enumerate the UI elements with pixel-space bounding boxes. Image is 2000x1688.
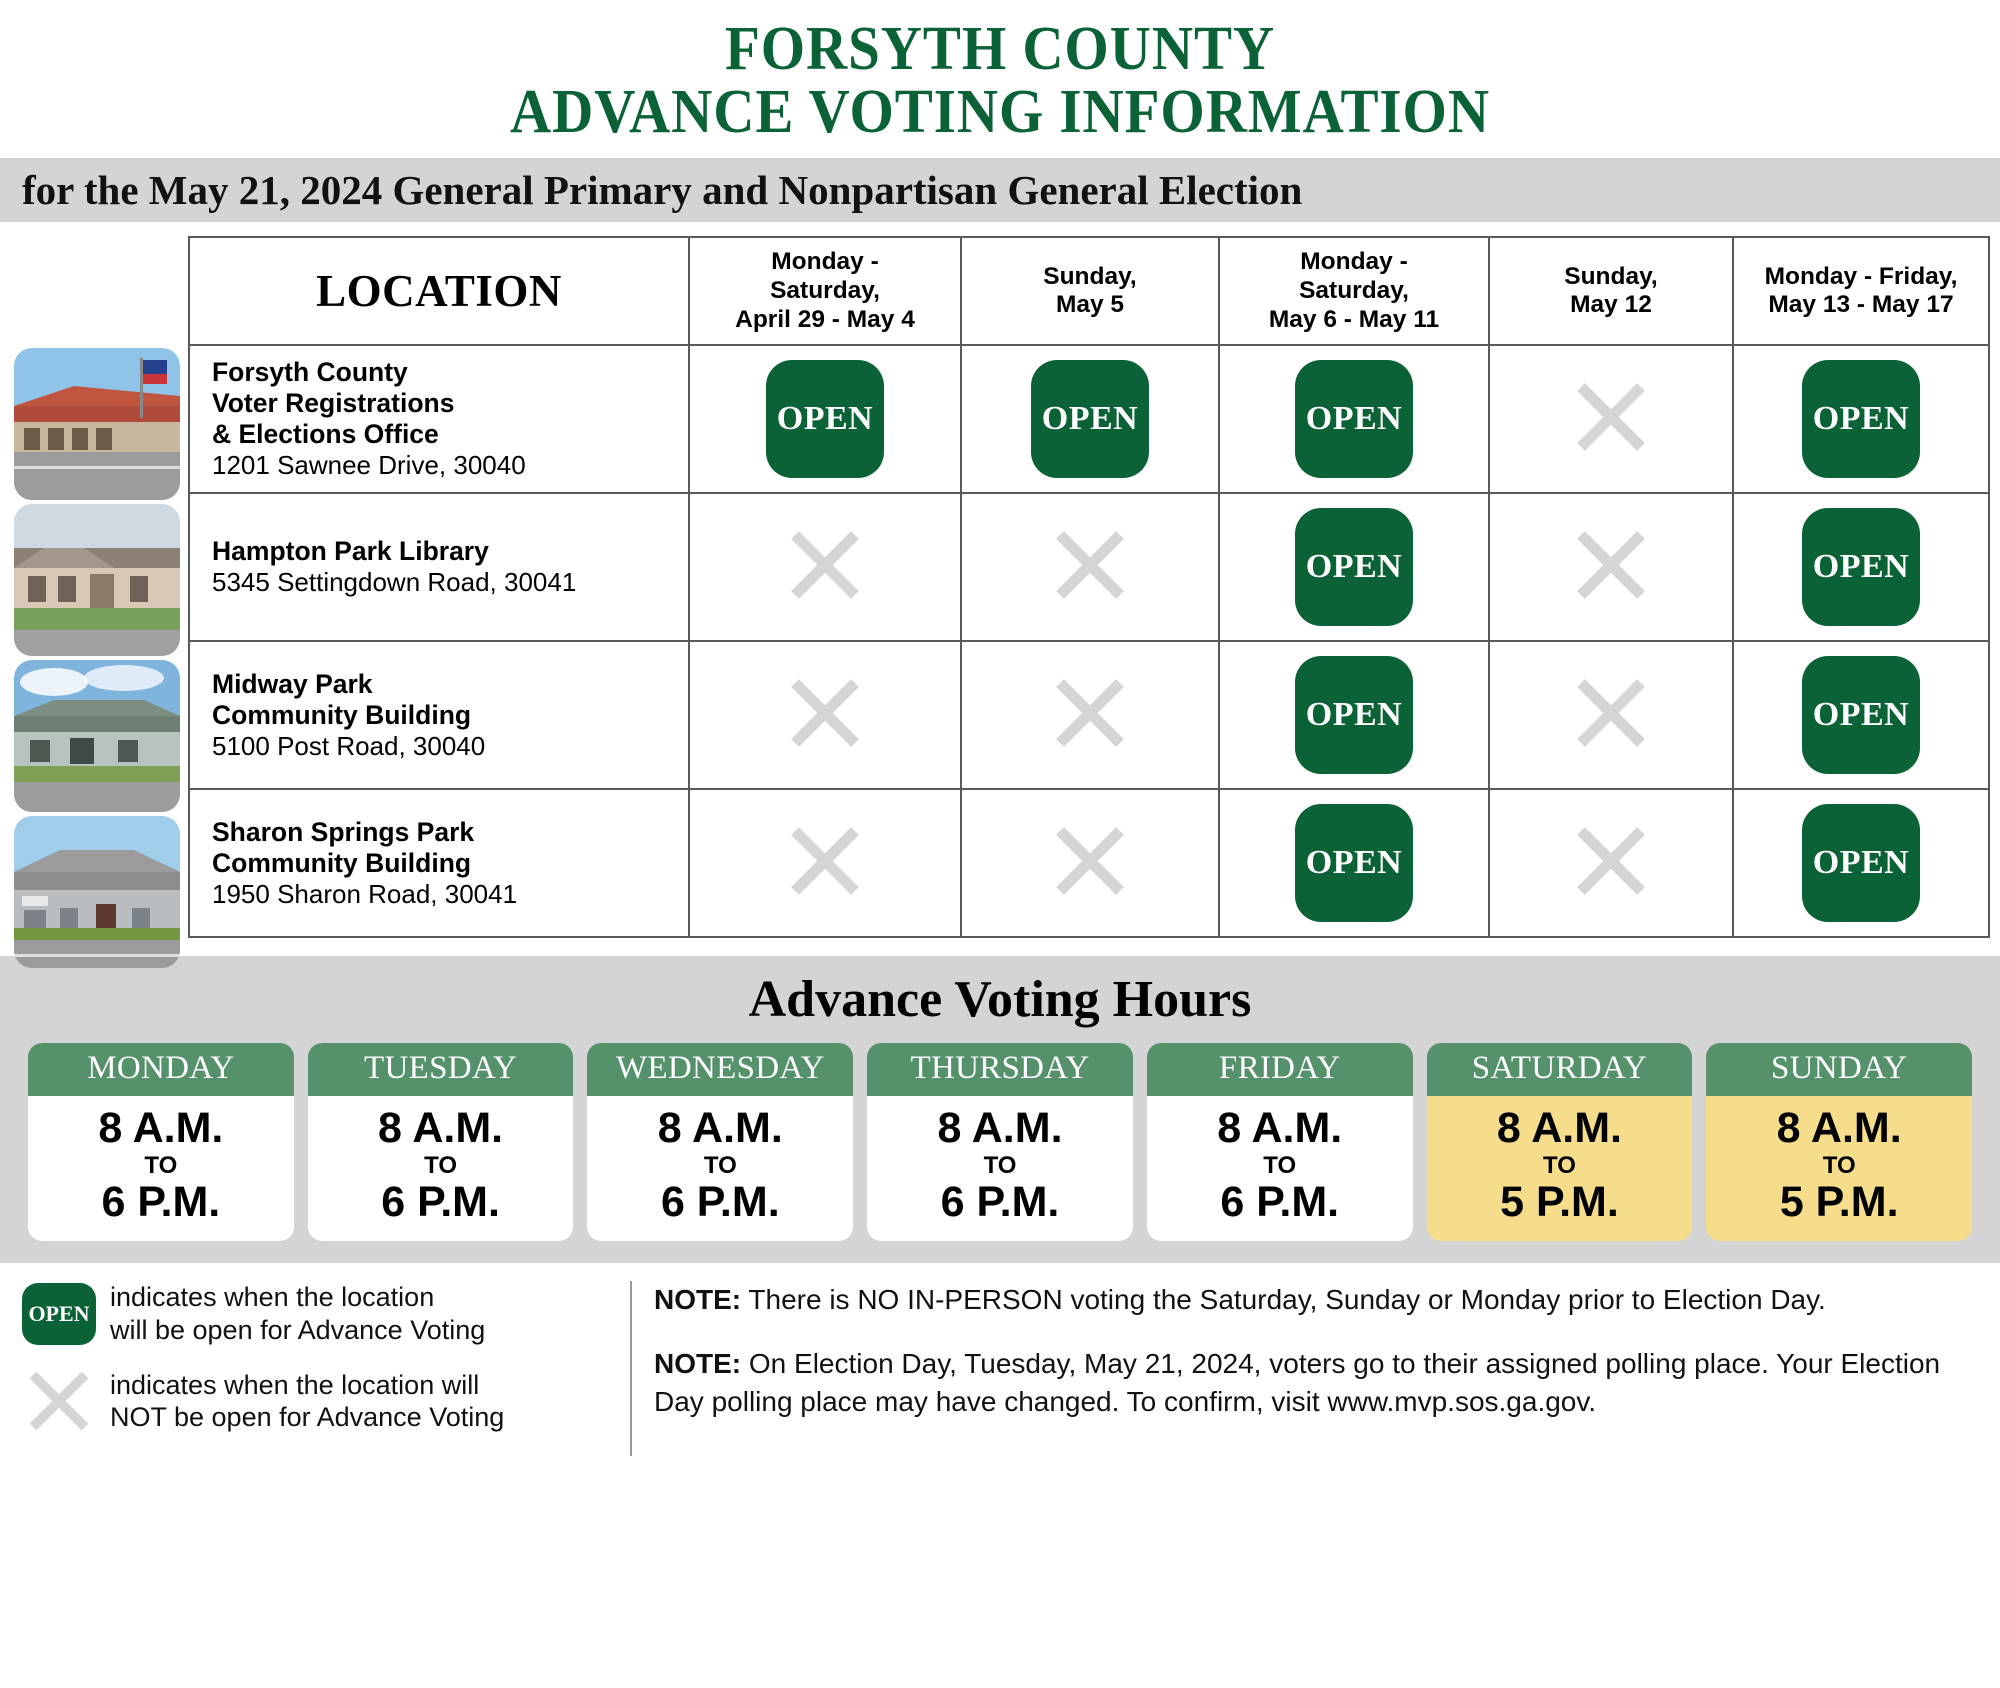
location-cell-sharon-springs-park: Sharon Springs Park Community Building 1…	[189, 789, 689, 937]
note-text: On Election Day, Tuesday, May 21, 2024, …	[654, 1348, 1940, 1417]
open-badge: OPEN	[766, 360, 884, 478]
status-cell: OPEN	[1733, 493, 1989, 641]
status-cell	[1489, 345, 1733, 493]
status-cell: OPEN	[961, 345, 1219, 493]
status-cell: OPEN	[1219, 789, 1489, 937]
day-hours: 8 A.M. TO 6 P.M.	[867, 1096, 1133, 1241]
closed-x-icon	[1052, 675, 1128, 751]
day-hours: 8 A.M. TO 6 P.M.	[1147, 1096, 1413, 1241]
status-cell: OPEN	[1219, 345, 1489, 493]
title-line-2: ADVANCE VOTING INFORMATION	[80, 81, 1920, 144]
open-badge: OPEN	[1295, 804, 1413, 922]
status-cell	[689, 493, 961, 641]
closed-x-icon	[787, 675, 863, 751]
subtitle-band: for the May 21, 2024 General Primary and…	[0, 158, 2000, 222]
note-no-inperson-voting: NOTE: There is NO IN-PERSON voting the S…	[654, 1281, 1978, 1319]
thumbnail-elections-office	[14, 348, 180, 500]
open-badge: OPEN	[1295, 508, 1413, 626]
closed-x-icon	[1573, 379, 1649, 455]
table-row: Forsyth County Voter Registrations & Ele…	[189, 345, 1989, 493]
title-line-1: FORSYTH COUNTY	[80, 18, 1920, 81]
day-label: SUNDAY	[1706, 1043, 1972, 1096]
day-card-monday: MONDAY 8 A.M. TO 6 P.M.	[28, 1043, 294, 1241]
location-cell-midway-park: Midway Park Community Building 5100 Post…	[189, 641, 689, 789]
table-row: Midway Park Community Building 5100 Post…	[189, 641, 1989, 789]
closed-x-icon	[1573, 823, 1649, 899]
legend-open-text: indicates when the location will be open…	[110, 1281, 485, 1346]
day-label: SATURDAY	[1427, 1043, 1693, 1096]
status-cell: OPEN	[1219, 641, 1489, 789]
schedule-table-area: LOCATION Monday - Saturday, April 29 - M…	[0, 236, 2000, 956]
advance-voting-hours-section: Advance Voting Hours MONDAY 8 A.M. TO 6 …	[0, 956, 2000, 1263]
day-card-thursday: THURSDAY 8 A.M. TO 6 P.M.	[867, 1043, 1133, 1241]
legend-item-open: OPEN indicates when the location will be…	[22, 1281, 614, 1346]
day-hours: 8 A.M. TO 6 P.M.	[28, 1096, 294, 1241]
closed-x-icon	[1573, 675, 1649, 751]
table-row: Hampton Park Library 5345 Settingdown Ro…	[189, 493, 1989, 641]
open-badge: OPEN	[1802, 656, 1920, 774]
open-badge: OPEN	[1031, 360, 1149, 478]
status-cell: OPEN	[1733, 345, 1989, 493]
note-election-day: NOTE: On Election Day, Tuesday, May 21, …	[654, 1345, 1978, 1421]
day-label: FRIDAY	[1147, 1043, 1413, 1096]
closed-x-icon	[22, 1368, 96, 1434]
status-cell: OPEN	[689, 345, 961, 493]
status-cell	[1489, 641, 1733, 789]
thumbnail-sharon-springs-park	[14, 816, 180, 968]
status-cell: OPEN	[1733, 641, 1989, 789]
page-title: FORSYTH COUNTY ADVANCE VOTING INFORMATIO…	[0, 0, 2000, 144]
note-label: NOTE:	[654, 1348, 741, 1379]
hours-cards-row: MONDAY 8 A.M. TO 6 P.M. TUESDAY 8 A.M. T…	[0, 1043, 2000, 1241]
status-cell	[961, 789, 1219, 937]
note-text: There is NO IN-PERSON voting the Saturda…	[748, 1284, 1825, 1315]
closed-x-icon	[1573, 527, 1649, 603]
status-cell	[961, 493, 1219, 641]
closed-x-icon	[787, 527, 863, 603]
status-cell	[689, 789, 961, 937]
day-hours: 8 A.M. TO 5 P.M.	[1706, 1096, 1972, 1241]
day-label: TUESDAY	[308, 1043, 574, 1096]
column-header-location: LOCATION	[189, 237, 689, 345]
open-badge: OPEN	[1802, 360, 1920, 478]
day-card-sunday: SUNDAY 8 A.M. TO 5 P.M.	[1706, 1043, 1972, 1241]
status-cell: OPEN	[1219, 493, 1489, 641]
open-badge: OPEN	[1802, 804, 1920, 922]
day-card-wednesday: WEDNESDAY 8 A.M. TO 6 P.M.	[587, 1043, 853, 1241]
day-label: THURSDAY	[867, 1043, 1133, 1096]
location-cell-elections-office: Forsyth County Voter Registrations & Ele…	[189, 345, 689, 493]
hours-section-title: Advance Voting Hours	[0, 966, 2000, 1043]
column-header-may12: Sunday, May 12	[1489, 237, 1733, 345]
open-badge: OPEN	[22, 1283, 96, 1345]
open-badge: OPEN	[1802, 508, 1920, 626]
legend: OPEN indicates when the location will be…	[22, 1281, 632, 1456]
day-hours: 8 A.M. TO 5 P.M.	[1427, 1096, 1693, 1241]
day-card-friday: FRIDAY 8 A.M. TO 6 P.M.	[1147, 1043, 1413, 1241]
column-header-may5: Sunday, May 5	[961, 237, 1219, 345]
open-badge: OPEN	[1295, 360, 1413, 478]
legend-closed-text: indicates when the location will NOT be …	[110, 1369, 504, 1434]
day-card-saturday: SATURDAY 8 A.M. TO 5 P.M.	[1427, 1043, 1693, 1241]
column-header-may6-may11: Monday - Saturday, May 6 - May 11	[1219, 237, 1489, 345]
footer-section: OPEN indicates when the location will be…	[0, 1263, 2000, 1456]
advance-voting-flyer: FORSYTH COUNTY ADVANCE VOTING INFORMATIO…	[0, 0, 2000, 1688]
day-hours: 8 A.M. TO 6 P.M.	[308, 1096, 574, 1241]
notes: NOTE: There is NO IN-PERSON voting the S…	[632, 1281, 1978, 1456]
status-cell: OPEN	[1733, 789, 1989, 937]
thumbnail-hampton-park-library	[14, 504, 180, 656]
status-cell	[961, 641, 1219, 789]
location-cell-hampton-park-library: Hampton Park Library 5345 Settingdown Ro…	[189, 493, 689, 641]
closed-x-icon	[787, 823, 863, 899]
table-header-row: LOCATION Monday - Saturday, April 29 - M…	[189, 237, 1989, 345]
day-label: WEDNESDAY	[587, 1043, 853, 1096]
day-label: MONDAY	[28, 1043, 294, 1096]
table-row: Sharon Springs Park Community Building 1…	[189, 789, 1989, 937]
status-cell	[1489, 789, 1733, 937]
closed-x-icon	[1052, 823, 1128, 899]
column-header-may13-may17: Monday - Friday, May 13 - May 17	[1733, 237, 1989, 345]
table-body: Forsyth County Voter Registrations & Ele…	[189, 345, 1989, 937]
thumbnail-midway-park	[14, 660, 180, 812]
day-hours: 8 A.M. TO 6 P.M.	[587, 1096, 853, 1241]
column-header-apr29-may4: Monday - Saturday, April 29 - May 4	[689, 237, 961, 345]
closed-x-icon	[1052, 527, 1128, 603]
advance-voting-schedule-table: LOCATION Monday - Saturday, April 29 - M…	[188, 236, 1990, 938]
note-label: NOTE:	[654, 1284, 741, 1315]
status-cell	[1489, 493, 1733, 641]
status-cell	[689, 641, 961, 789]
day-card-tuesday: TUESDAY 8 A.M. TO 6 P.M.	[308, 1043, 574, 1241]
legend-item-closed: indicates when the location will NOT be …	[22, 1368, 614, 1434]
subtitle-text: for the May 21, 2024 General Primary and…	[22, 166, 1302, 214]
open-badge: OPEN	[1295, 656, 1413, 774]
